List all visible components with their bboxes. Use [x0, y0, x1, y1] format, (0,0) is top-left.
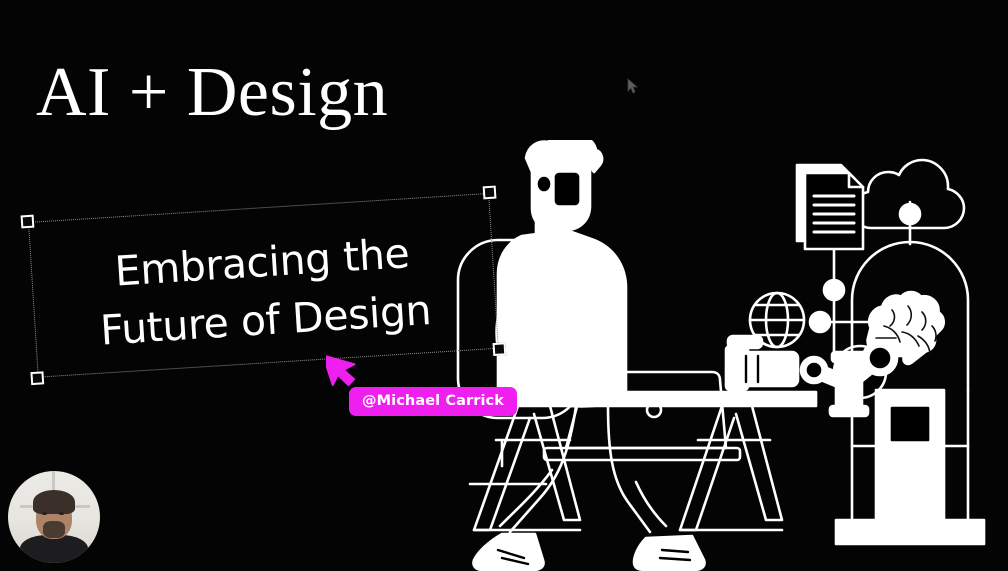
page-title: AI + Design [36, 52, 388, 134]
participant-body [20, 535, 88, 563]
webcam-video-feed [8, 471, 100, 563]
slide-subtitle-line-1: Embracing the [113, 229, 410, 295]
cursor-arrow-icon [326, 348, 360, 388]
participant-eye-right [59, 512, 64, 515]
document-stack-icon [797, 165, 863, 249]
selection-handle-bottom-left[interactable] [30, 371, 44, 385]
participant-eye-left [42, 512, 47, 515]
pointer-arrow-icon [627, 78, 639, 94]
illustration-artwork [440, 140, 1008, 571]
selected-text-element[interactable]: Embracing the Future of Design [28, 193, 499, 378]
selection-handle-bottom-right[interactable] [493, 342, 507, 356]
selection-handle-top-right[interactable] [483, 186, 497, 200]
coffee-cup-icon [830, 352, 868, 416]
selection-handle-top-left[interactable] [21, 215, 35, 229]
robotic-arm-icon [726, 336, 897, 390]
participant-hair [33, 490, 75, 514]
person-at-desk-icon [473, 140, 704, 570]
webcam-avatar-icon[interactable] [8, 471, 100, 563]
participant-beard [43, 521, 65, 538]
slide-canvas[interactable]: AI + Design [0, 0, 1008, 571]
collaborator-name-label: @Michael Carrick [349, 387, 517, 416]
